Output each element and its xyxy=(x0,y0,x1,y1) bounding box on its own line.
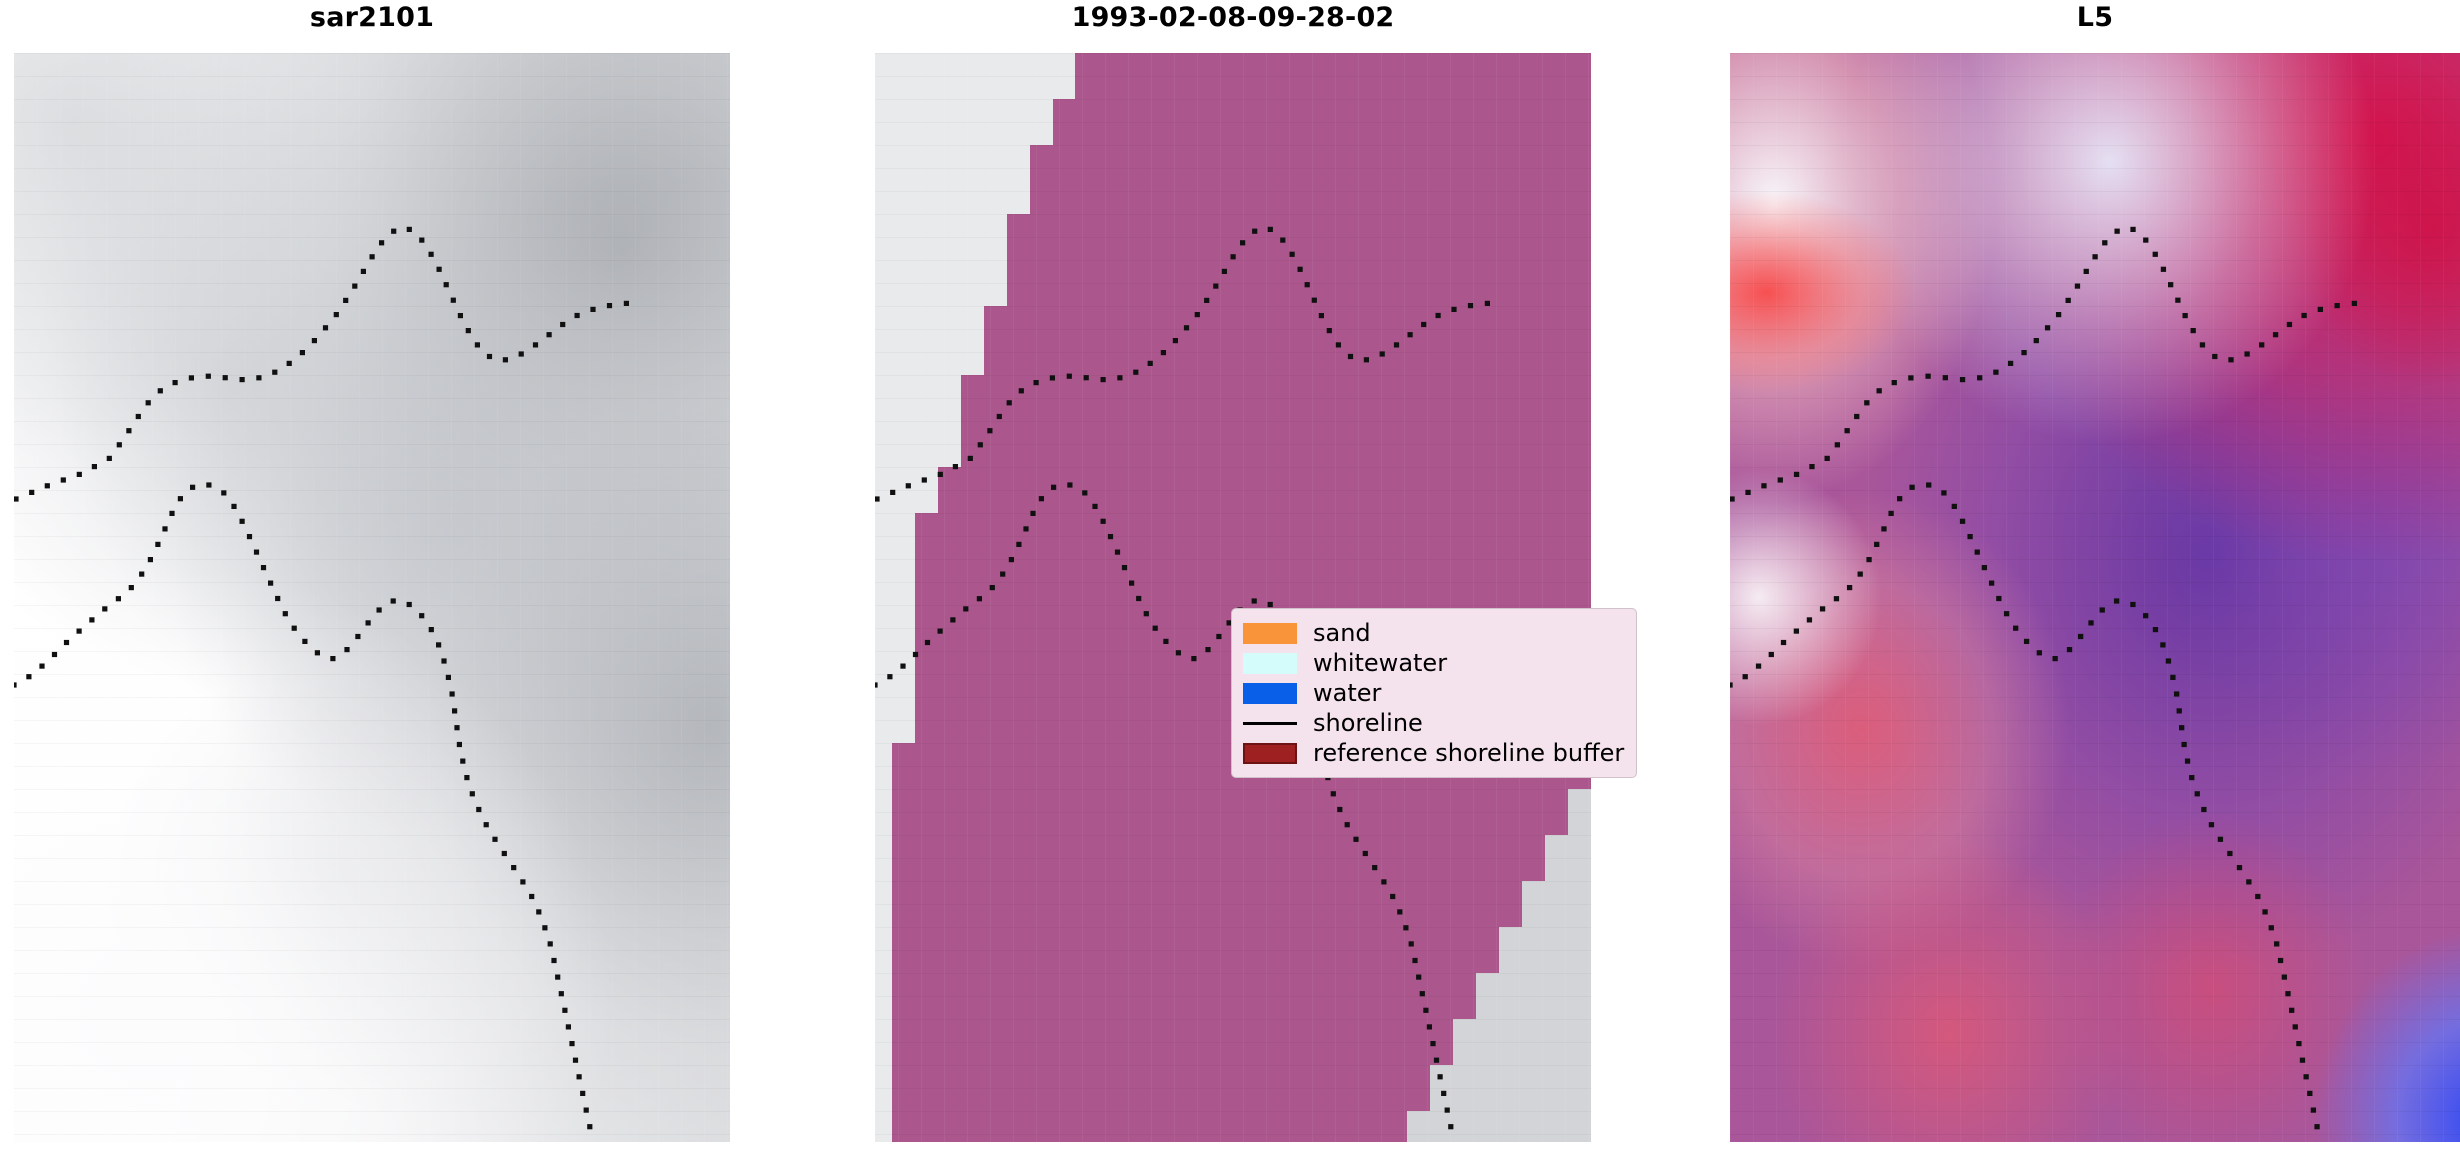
panel-sar: sar2101 xyxy=(14,0,730,1157)
legend-swatch-reference-shoreline-buffer xyxy=(1243,743,1297,764)
legend-swatch-shoreline xyxy=(1243,722,1297,725)
legend-label-whitewater: whitewater xyxy=(1313,651,1447,675)
legend-swatch-whitewater xyxy=(1243,653,1297,674)
panel-l5-title: L5 xyxy=(1730,2,2460,33)
panel-classified: 1993-02-08-09-28-02 xyxy=(875,0,1591,1157)
classified-pixel-grid xyxy=(875,53,1591,1142)
panel-l5-image[interactable] xyxy=(1730,53,2460,1142)
sar-pixel-grid xyxy=(14,53,730,1142)
panel-classified-image[interactable] xyxy=(875,53,1591,1142)
panel-sar-image[interactable] xyxy=(14,53,730,1142)
panel-l5: L5 xyxy=(1730,0,2460,1157)
panel-sar-title: sar2101 xyxy=(14,2,730,33)
legend-swatch-water xyxy=(1243,683,1297,704)
legend-label-shoreline: shoreline xyxy=(1313,711,1423,735)
l5-pixel-grid xyxy=(1730,53,2460,1142)
legend-label-sand: sand xyxy=(1313,621,1371,645)
legend-row[interactable]: shoreline xyxy=(1243,708,1624,738)
legend-row[interactable]: water xyxy=(1243,678,1624,708)
figure-root: sar2101 1993-02-08-09-28-02 xyxy=(0,0,2460,1157)
legend-row[interactable]: sand xyxy=(1243,618,1624,648)
map-legend[interactable]: sand whitewater water shoreline referenc… xyxy=(1231,608,1637,778)
legend-row[interactable]: whitewater xyxy=(1243,648,1624,678)
panel-classified-title: 1993-02-08-09-28-02 xyxy=(875,2,1591,33)
legend-row[interactable]: reference shoreline buffer xyxy=(1243,738,1624,768)
legend-label-water: water xyxy=(1313,681,1381,705)
legend-label-reference-shoreline-buffer: reference shoreline buffer xyxy=(1313,741,1624,765)
legend-swatch-sand xyxy=(1243,623,1297,644)
